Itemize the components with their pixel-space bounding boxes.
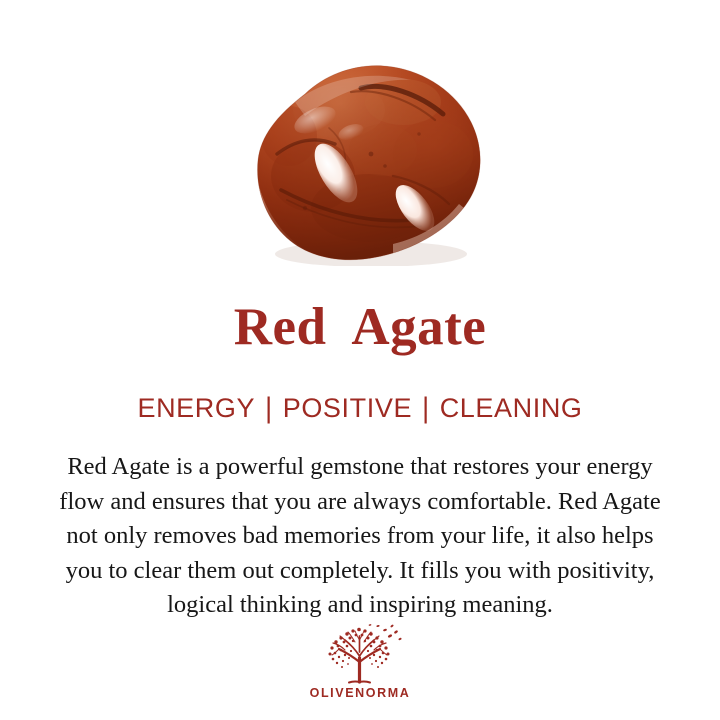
brand-wordmark: OLIVENORMA xyxy=(310,686,411,700)
keyword-cleaning: CLEANING xyxy=(440,393,583,424)
description-line: you to clear them out completely. It fil… xyxy=(18,554,702,589)
tree-of-life-icon xyxy=(314,622,406,684)
red-agate-stone-icon xyxy=(243,58,489,266)
keyword-separator-1: | xyxy=(255,392,283,425)
product-description: Red Agate is a powerful gemstone that re… xyxy=(18,450,702,623)
product-image-area xyxy=(0,0,720,290)
red-agate-stone-image xyxy=(243,58,489,266)
keyword-energy: ENERGY xyxy=(137,393,255,424)
description-line: logical thinking and inspiring meaning. xyxy=(18,588,702,623)
keyword-positive: POSITIVE xyxy=(283,393,412,424)
description-line: flow and ensures that you are always com… xyxy=(18,485,702,520)
description-line: Red Agate is a powerful gemstone that re… xyxy=(18,450,702,485)
keyword-list: ENERGY|POSITIVE|CLEANING xyxy=(0,393,720,424)
product-info-card: Red Agate ENERGY|POSITIVE|CLEANING Red A… xyxy=(0,0,720,720)
keyword-separator-2: | xyxy=(412,392,440,425)
page-title: Red Agate xyxy=(0,300,720,356)
brand-logo: OLIVENORMA xyxy=(0,622,720,700)
description-line: not only removes bad memories from your … xyxy=(18,519,702,554)
